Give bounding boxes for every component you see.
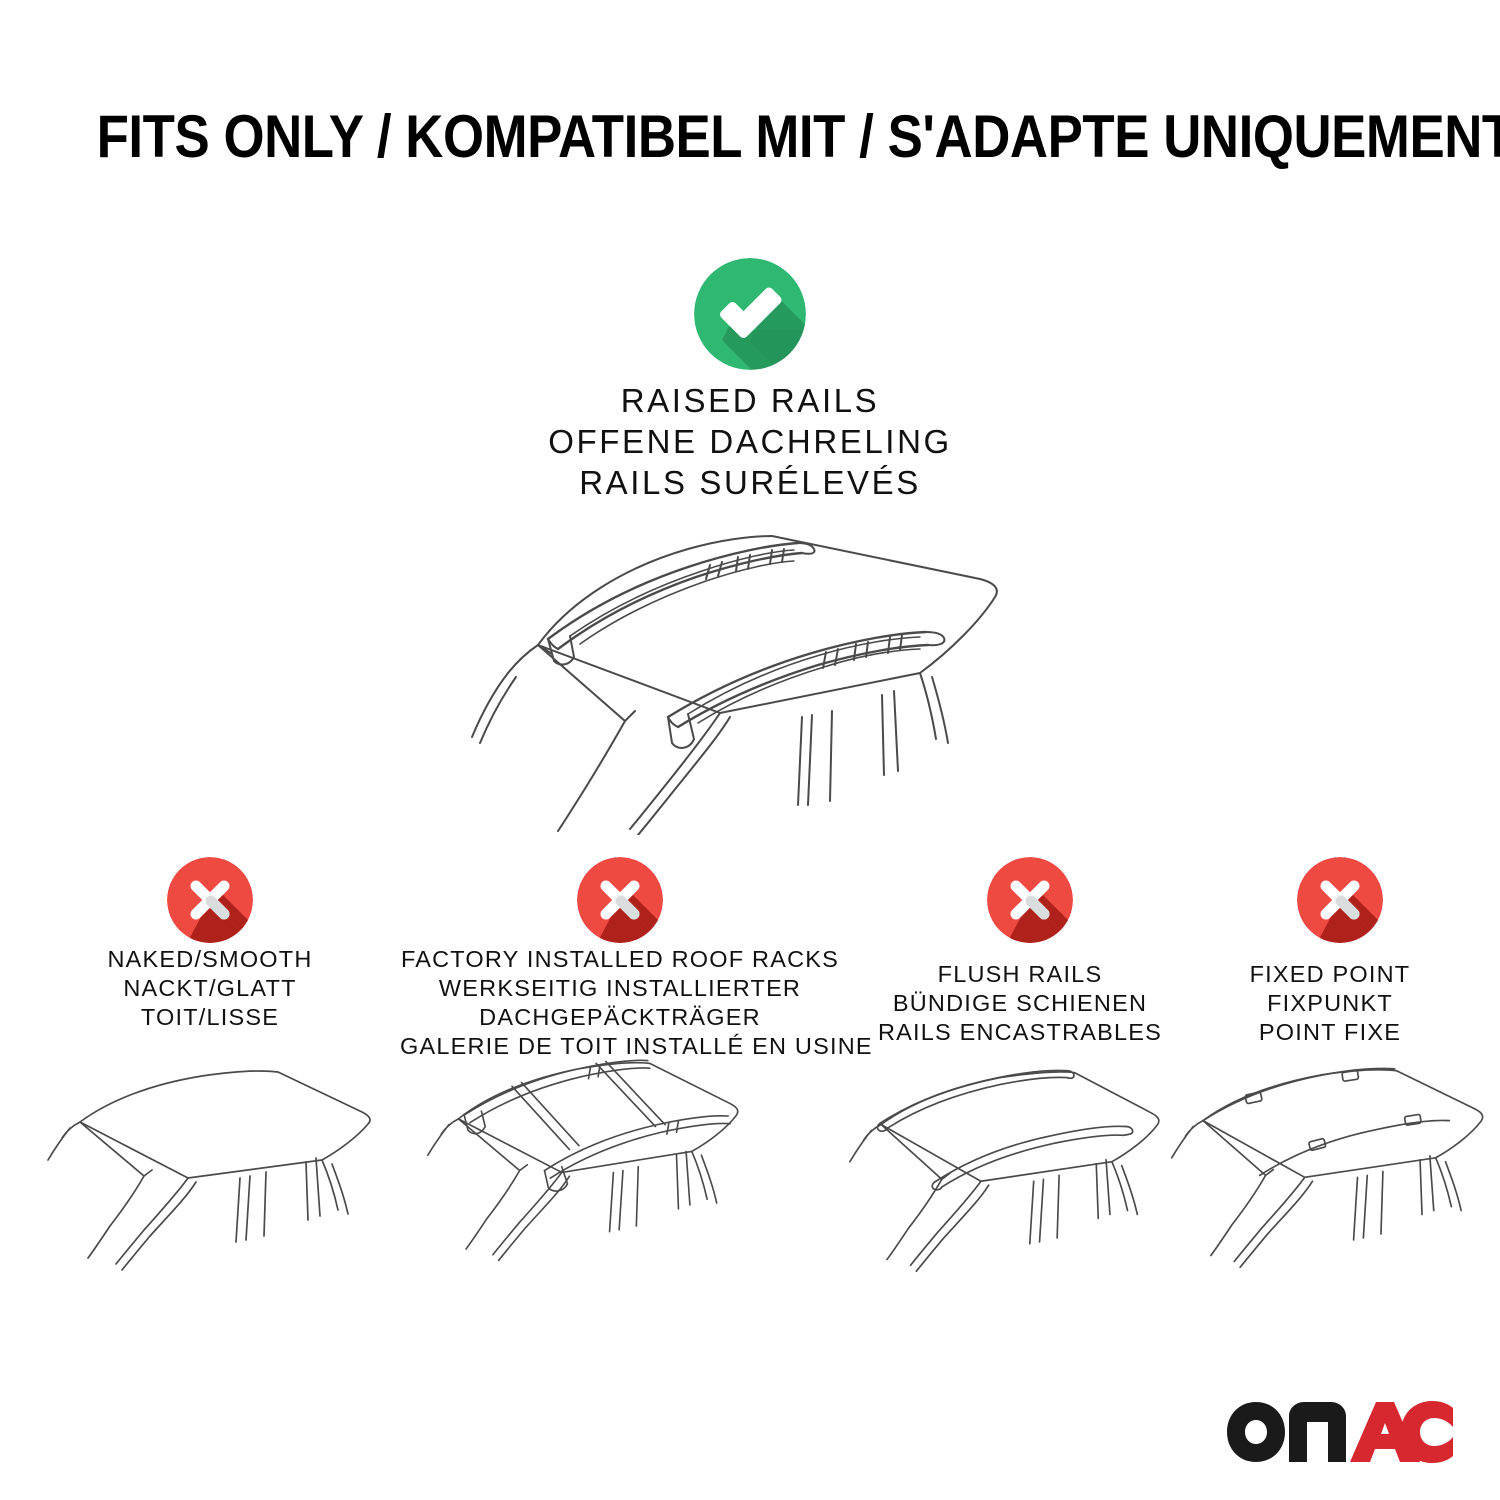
- caption-naked-smooth: NAKED/SMOOTH NACKT/GLATT TOIT/LISSE: [10, 945, 410, 1032]
- caption-fixed-point: FIXED POINT FIXPUNKT POINT FIXE: [1180, 960, 1480, 1047]
- caption-factory-racks-line-1: FACTORY INSTALLED ROOF RACKS: [400, 945, 840, 974]
- car-roof-with-raised-rails-illustration: [420, 505, 1090, 835]
- page-title: FITS ONLY / KOMPATIBEL MIT / S'ADAPTE UN…: [0, 103, 1500, 171]
- car-roof-factory-installed-racks-illustration: [400, 1050, 800, 1270]
- caption-flush-rails: FLUSH RAILS BÜNDIGE SCHIENEN RAILS ENCAS…: [860, 960, 1180, 1047]
- caption-naked-smooth-line-3: TOIT/LISSE: [10, 1003, 410, 1032]
- caption-fixed-point-line-1: FIXED POINT: [1180, 960, 1480, 989]
- caption-naked-smooth-line-2: NACKT/GLATT: [10, 974, 410, 1003]
- omac-logo-text: OMAC: [1225, 1464, 1226, 1465]
- approved-caption-line-2: OFFENE DACHRELING: [350, 421, 1150, 462]
- x-circle-icon-flush-rails: [987, 857, 1073, 943]
- caption-factory-racks-line-3: DACHGEPÄCKTRÄGER: [400, 1003, 840, 1032]
- car-roof-flush-rails-illustration: [830, 1060, 1210, 1280]
- car-roof-naked-smooth-illustration: [40, 1060, 400, 1280]
- x-circle-icon-naked-smooth: [167, 857, 253, 943]
- caption-flush-rails-line-3: RAILS ENCASTRABLES: [860, 1018, 1180, 1047]
- approved-caption-line-1: RAISED RAILS: [350, 380, 1150, 421]
- caption-fixed-point-line-2: FIXPUNKT: [1180, 989, 1480, 1018]
- approved-caption-line-3: RAILS SURÉLEVÉS: [350, 462, 1150, 503]
- approved-caption: RAISED RAILS OFFENE DACHRELING RAILS SUR…: [350, 380, 1150, 503]
- caption-fixed-point-line-3: POINT FIXE: [1180, 1018, 1480, 1047]
- caption-factory-racks-line-2: WERKSEITIG INSTALLIERTER: [400, 974, 840, 1003]
- caption-flush-rails-line-2: BÜNDIGE SCHIENEN: [860, 989, 1180, 1018]
- page-title-text: FITS ONLY / KOMPATIBEL MIT / S'ADAPTE UN…: [97, 103, 1500, 171]
- caption-naked-smooth-line-1: NAKED/SMOOTH: [10, 945, 410, 974]
- caption-flush-rails-line-1: FLUSH RAILS: [860, 960, 1180, 989]
- omac-logo: OMAC: [1225, 1398, 1455, 1464]
- x-circle-icon-factory-racks: [577, 857, 663, 943]
- caption-factory-racks: FACTORY INSTALLED ROOF RACKS WERKSEITIG …: [400, 945, 840, 1061]
- x-circle-icon-fixed-point: [1297, 857, 1383, 943]
- car-roof-fixed-point-illustration: [1160, 1060, 1500, 1280]
- check-circle-icon: [694, 258, 806, 370]
